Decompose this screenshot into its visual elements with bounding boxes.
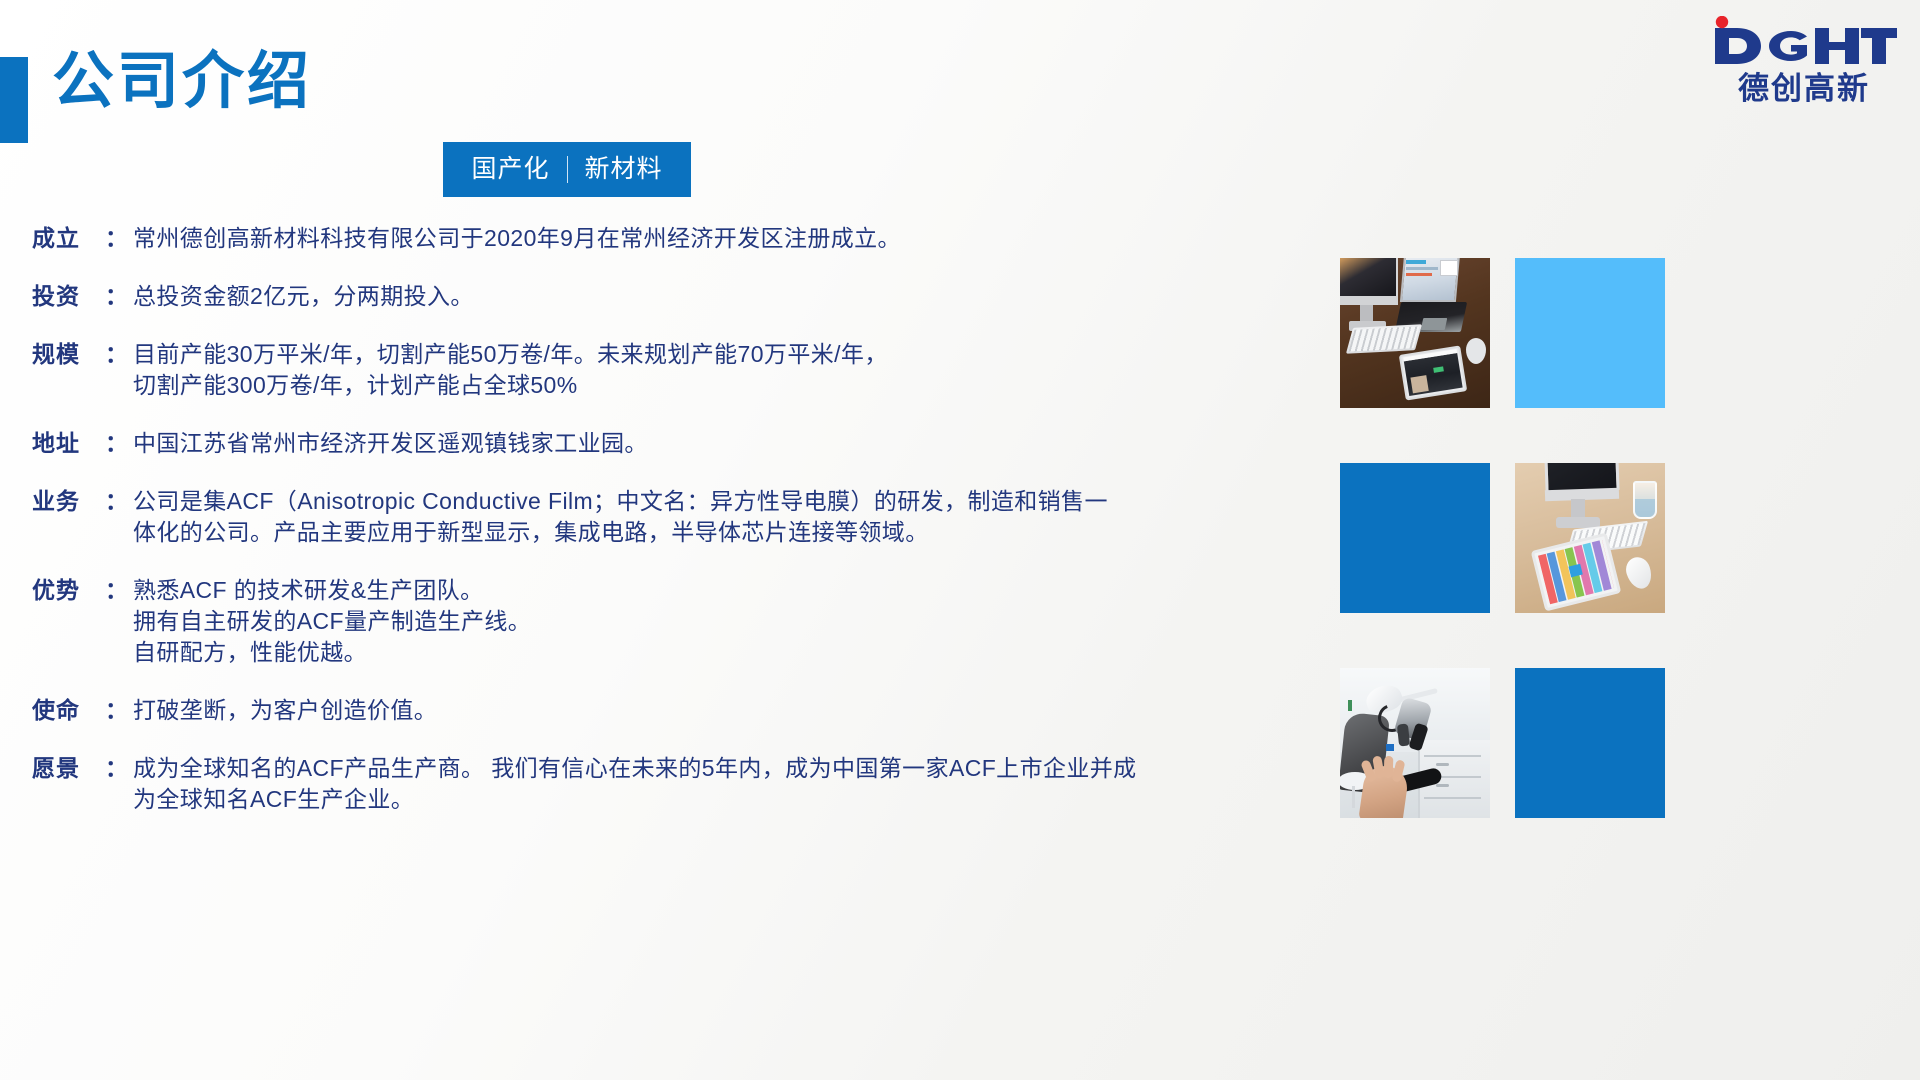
company-info-list: 成立 ： 常州德创高新材料科技有限公司于2020年9月在常州经济开发区注册成立。… [32, 223, 1292, 842]
tagline-left-text: 国产化 [471, 157, 549, 182]
page-title: 公司介绍 [52, 48, 312, 116]
light-blue-block [1515, 258, 1665, 408]
deep-blue-block-left [1340, 463, 1490, 613]
logo-dot-icon [1716, 16, 1728, 28]
info-colon: ： [104, 753, 133, 784]
info-row-founded: 成立 ： 常州德创高新材料科技有限公司于2020年9月在常州经济开发区注册成立。 [32, 223, 1292, 254]
info-label: 愿景 [32, 753, 104, 784]
dcht-wordmark-icon [1711, 16, 1897, 70]
info-label: 成立 [32, 223, 104, 254]
info-body: 公司是集ACF（Anisotropic Conductive Film；中文名：… [133, 486, 1292, 548]
image-grid [1340, 258, 1780, 878]
info-colon: ： [104, 339, 133, 370]
company-logo: 德创高新 [1706, 6, 1902, 114]
info-body: 熟悉ACF 的技术研发&生产团队。 拥有自主研发的ACF量产制造生产线。 自研配… [133, 575, 1292, 668]
info-row-vision: 愿景 ： 成为全球知名的ACF产品生产商。 我们有信心在未来的5年内，成为中国第… [32, 753, 1292, 815]
info-body: 成为全球知名的ACF产品生产商。 我们有信心在未来的5年内，成为中国第一家ACF… [133, 753, 1292, 815]
info-body: 常州德创高新材料科技有限公司于2020年9月在常州经济开发区注册成立。 [133, 223, 1292, 254]
info-row-advantage: 优势 ： 熟悉ACF 的技术研发&生产团队。 拥有自主研发的ACF量产制造生产线… [32, 575, 1292, 668]
info-row-business: 业务 ： 公司是集ACF（Anisotropic Conductive Film… [32, 486, 1292, 548]
info-label: 使命 [32, 695, 104, 726]
info-colon: ： [104, 575, 133, 606]
slide-root: 公司介绍 德创高新 国产化 新材料 成立 ： 常州德创高新材料科技有限公司于20… [0, 0, 1920, 1080]
info-label: 地址 [32, 428, 104, 459]
info-label: 规模 [32, 339, 104, 370]
info-colon: ： [104, 281, 133, 312]
tagline-right-text: 新材料 [585, 157, 663, 182]
deep-blue-block-right [1515, 668, 1665, 818]
info-body: 目前产能30万平米/年，切割产能50万卷/年。未来规划产能70万平米/年， 切割… [133, 339, 1292, 401]
info-row-scale: 规模 ： 目前产能30万平米/年，切割产能50万卷/年。未来规划产能70万平米/… [32, 339, 1292, 401]
tagline-separator-icon [567, 156, 568, 183]
info-row-address: 地址 ： 中国江苏省常州市经济开发区遥观镇钱家工业园。 [32, 428, 1292, 459]
info-row-investment: 投资 ： 总投资金额2亿元，分两期投入。 [32, 281, 1292, 312]
tagline-banner: 国产化 新材料 [443, 142, 691, 197]
info-row-mission: 使命 ： 打破垄断，为客户创造价值。 [32, 695, 1292, 726]
info-colon: ： [104, 486, 133, 517]
desk-dark-devices-photo [1340, 258, 1490, 408]
info-colon: ： [104, 428, 133, 459]
title-accent-bar [0, 57, 28, 143]
info-body: 中国江苏省常州市经济开发区遥观镇钱家工业园。 [133, 428, 1292, 459]
info-label: 投资 [32, 281, 104, 312]
info-label: 优势 [32, 575, 104, 606]
clinic-robot-hand-photo [1340, 668, 1490, 818]
info-colon: ： [104, 223, 133, 254]
info-body: 打破垄断，为客户创造价值。 [133, 695, 1292, 726]
logo-chinese-name: 德创高新 [1738, 73, 1870, 104]
info-label: 业务 [32, 486, 104, 517]
info-body: 总投资金额2亿元，分两期投入。 [133, 281, 1292, 312]
desk-light-devices-photo [1515, 463, 1665, 613]
info-colon: ： [104, 695, 133, 726]
